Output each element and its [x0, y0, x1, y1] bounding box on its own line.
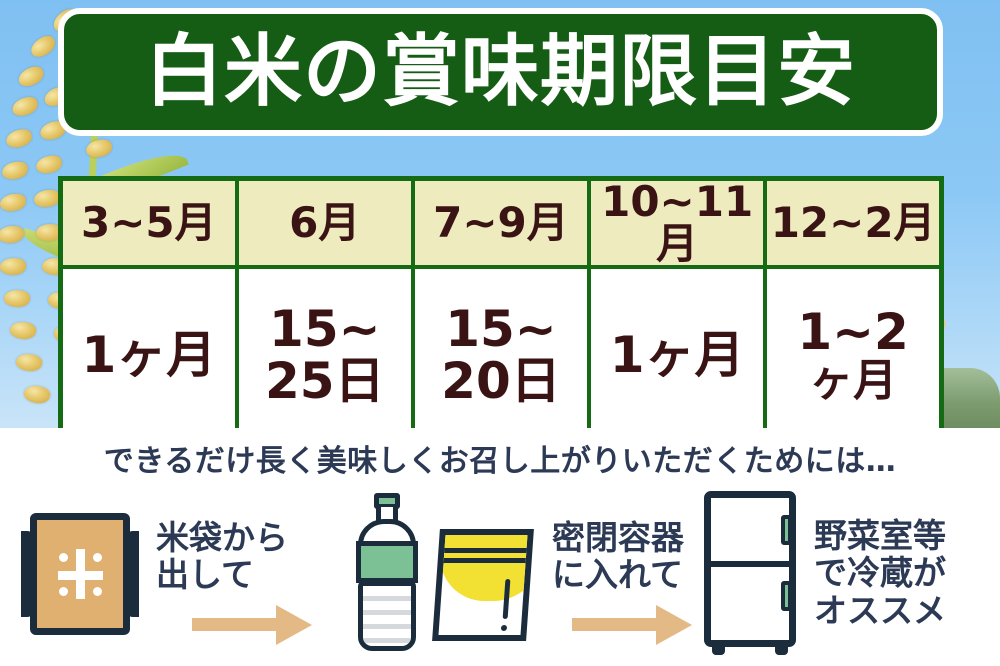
page-title: 白米の賞味期限目安	[145, 33, 856, 111]
rice-grain	[22, 383, 51, 406]
step-3-icons	[700, 480, 800, 666]
table-value-cell: 1~2 ヶ月	[765, 267, 941, 444]
caption-line: オススメ	[814, 592, 946, 629]
step-remove-from-bag: 米袋から 出して	[22, 480, 352, 666]
table-value-cell: 15~ 25日	[237, 267, 413, 444]
title-banner: 白米の賞味期限目安	[58, 8, 943, 136]
arrow-head	[656, 605, 692, 645]
bottle-barrel	[358, 581, 416, 651]
bottle-ridge	[363, 596, 411, 601]
cell-line: 1ヶ月	[591, 329, 763, 381]
lead-text: できるだけ長く美味しくお召し上がりいただくためには…	[0, 436, 1000, 480]
table-header-cell: 6月	[237, 179, 413, 268]
rice-grain	[0, 226, 24, 243]
rice-grain	[1, 161, 29, 181]
step-2-caption: 密閉容器 に入れて	[552, 519, 684, 594]
water-bottle-icon	[352, 493, 422, 653]
cell-line: 25日	[239, 355, 411, 407]
rice-grain	[34, 190, 61, 208]
rice-bag-icon	[22, 503, 138, 643]
caption-line: 密閉容器	[552, 519, 684, 556]
table-header-cell: 3~5月	[61, 179, 237, 268]
step-refrigerate: 野菜室等 で冷蔵が オススメ	[700, 480, 990, 666]
table-value-cell: 1ヶ月	[61, 267, 237, 444]
bottle-ridge	[363, 624, 411, 629]
caption-line: 野菜室等	[814, 517, 946, 554]
arrow-shaft	[572, 618, 660, 631]
storage-advice-panel: できるだけ長く美味しくお召し上がりいただくためには…	[0, 428, 1000, 666]
zip-bag-slider-dot	[501, 625, 507, 631]
caption-line: 米袋から	[156, 519, 288, 556]
fridge-handle-lower	[781, 581, 792, 611]
rice-grain	[85, 139, 113, 159]
zip-bag-seal-line	[442, 548, 534, 553]
infographic-root: 白米の賞味期限目安 3~5月 6月 7~9月 10~11月 12~2月 1ヶ月 …	[0, 0, 1000, 666]
bottle-ridge	[363, 610, 411, 615]
step-2-icons	[352, 480, 536, 666]
table-value-cell: 1ヶ月	[589, 267, 765, 444]
kome-dot	[59, 587, 68, 596]
zip-bag-icon	[432, 527, 536, 645]
zip-bag-body	[432, 529, 534, 641]
shelf-life-table: 3~5月 6月 7~9月 10~11月 12~2月 1ヶ月 15~ 25日 15…	[58, 176, 944, 446]
arrow-shaft	[192, 618, 280, 631]
cell-line: ヶ月	[767, 358, 939, 404]
rice-grain	[5, 128, 34, 149]
arrow-head	[276, 605, 312, 645]
table-row: 1ヶ月 15~ 25日 15~ 20日 1ヶ月 1~2 ヶ月	[61, 267, 942, 444]
step-1-caption: 米袋から 出して	[156, 519, 288, 594]
table-header-cell: 10~11月	[589, 179, 765, 268]
cell-line: 15~	[415, 303, 587, 355]
rice-grain	[28, 33, 59, 60]
cell-line: 1~2	[767, 306, 939, 358]
step-airtight-container: 密閉容器 に入れて	[352, 480, 692, 666]
steps-row: 米袋から 出して	[0, 480, 1000, 666]
fridge-door-divider	[704, 561, 796, 567]
caption-line: 出して	[156, 556, 288, 593]
step-1-arrow-icon	[192, 605, 312, 645]
bottle-ridge	[363, 638, 411, 643]
rice-grain	[35, 154, 63, 174]
caption-line: に入れて	[552, 556, 684, 593]
fridge-foot	[775, 645, 788, 655]
step-2-arrow-icon	[572, 605, 692, 645]
rice-bag-notch-right	[125, 531, 139, 617]
bottle-label	[356, 541, 418, 583]
refrigerator-icon	[700, 489, 800, 657]
cell-line: 1ヶ月	[63, 329, 235, 381]
table-header-cell: 12~2月	[765, 179, 941, 268]
kome-dot	[59, 553, 68, 562]
step-3-caption: 野菜室等 で冷蔵が オススメ	[814, 517, 946, 629]
kome-symbol-icon	[56, 547, 104, 601]
rice-grain	[15, 351, 44, 373]
rice-grain	[10, 95, 39, 118]
kome-dot	[93, 553, 102, 562]
caption-line: で冷蔵が	[814, 554, 946, 591]
rice-grain	[3, 288, 31, 308]
rice-bag-notch-left	[21, 531, 35, 617]
fridge-foot	[712, 645, 725, 655]
rice-grain	[16, 64, 46, 89]
table-header-row: 3~5月 6月 7~9月 10~11月 12~2月	[61, 179, 942, 268]
cell-line: 15~	[239, 303, 411, 355]
kome-dot	[93, 587, 102, 596]
cell-line: 20日	[415, 355, 587, 407]
rice-grain	[9, 320, 38, 341]
rice-grain	[0, 257, 27, 276]
fridge-handle-upper	[781, 515, 792, 545]
zip-bag-seal-line	[442, 558, 534, 563]
table-value-cell: 15~ 20日	[413, 267, 589, 444]
rice-grain	[0, 193, 27, 212]
kome-horizontal-stroke	[58, 571, 103, 580]
zip-bag-contents	[437, 535, 534, 601]
table-header-cell: 7~9月	[413, 179, 589, 268]
step-1-icons	[22, 480, 138, 666]
